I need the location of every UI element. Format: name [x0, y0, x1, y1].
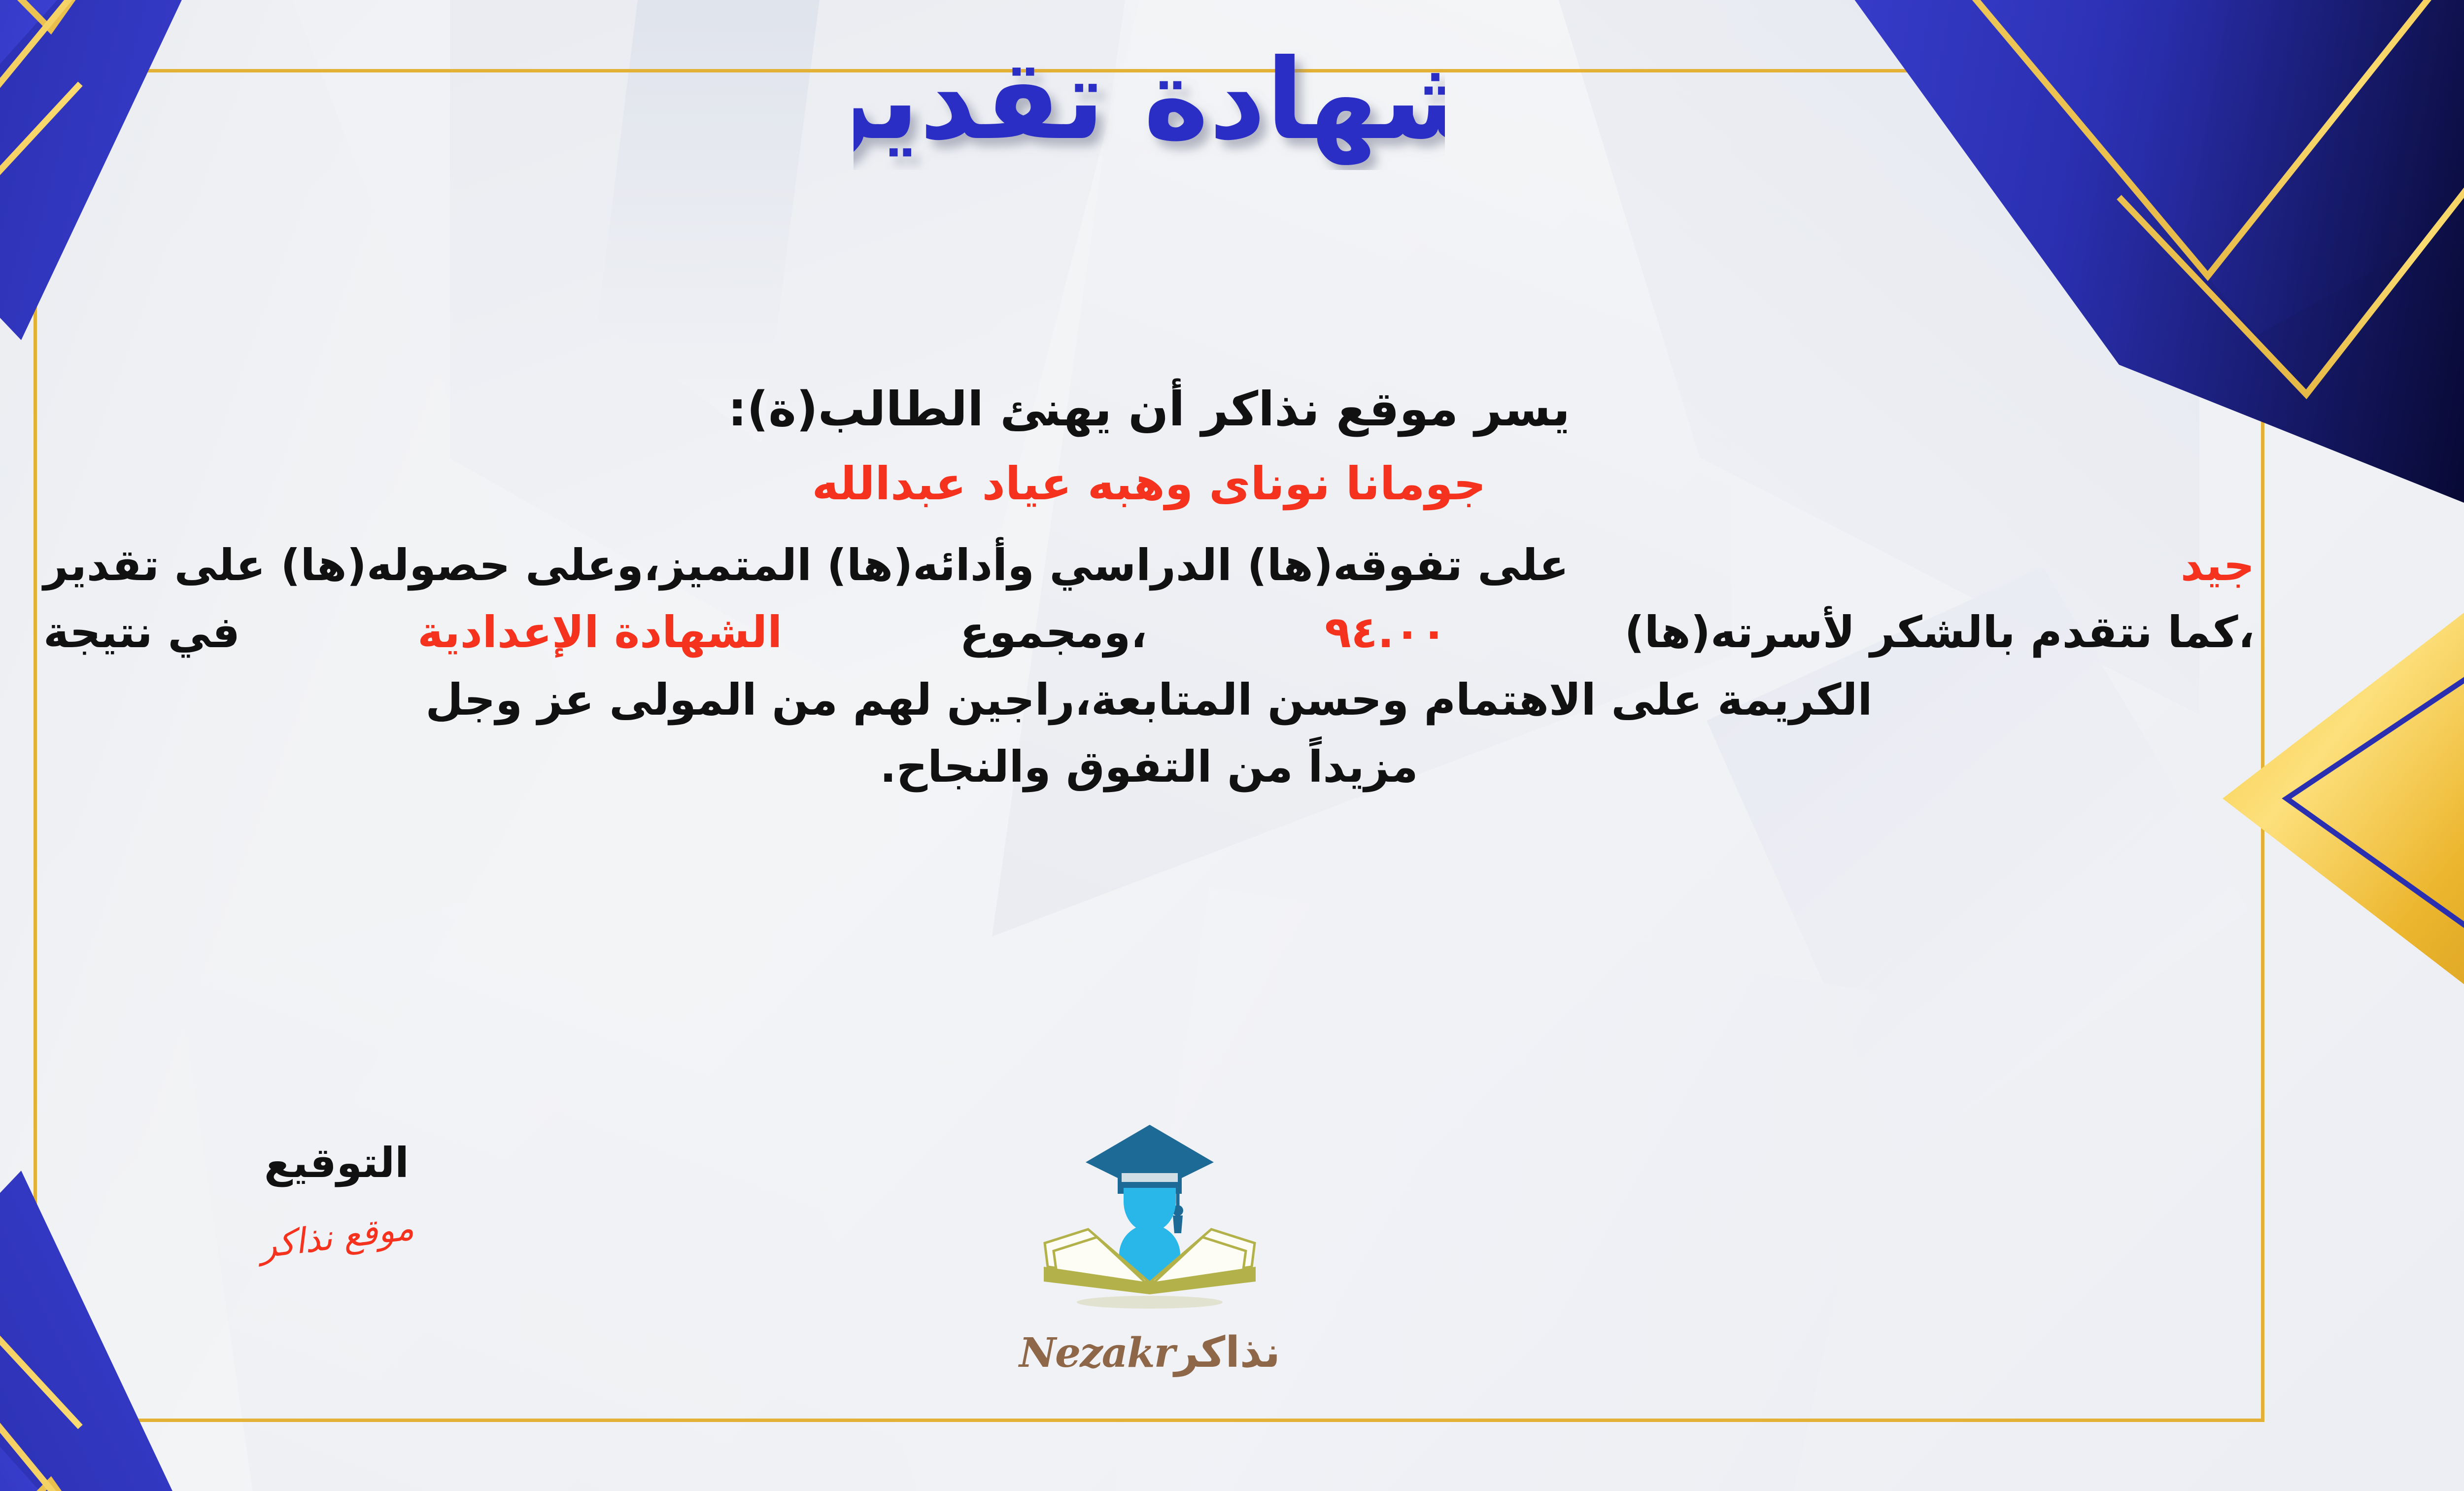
citation-line-2: ،كما نتقدم بالشكر لأسرته(ها) ٩٤.٠٠ ،ومجم… [43, 599, 2255, 666]
greeting-line: يسر موقع نذاكر أن يهنئ الطالب(ة): [34, 380, 2264, 439]
signature-label: التوقيع [199, 1139, 475, 1187]
certificate-content: يسر موقع نذاكر أن يهنئ الطالب(ة): جومانا… [34, 380, 2264, 801]
citation-line-2-suffix: ،كما نتقدم بالشكر لأسرته(ها) [1625, 599, 2255, 666]
citation-paragraph: جيد على تفوقه(ها) الدراسي وأدائه(ها) الم… [34, 532, 2264, 801]
signature-script: موقع نذاكر [257, 1207, 416, 1266]
grade-value: جيد [2181, 532, 2255, 599]
citation-line-3: الكريمة على الاهتمام وحسن المتابعة،راجين… [43, 666, 2255, 733]
citation-line-2-prefix: في نتيجة [43, 599, 240, 666]
brand-wordmark: Nezakrنذاكر [962, 1328, 1337, 1377]
citation-line-1-text: على تفوقه(ها) الدراسي وأدائه(ها) المتميز… [43, 532, 1569, 599]
student-name: جومانا نوناى وهبه عياد عبدالله [34, 455, 2264, 512]
citation-line-4: مزيداً من التفوق والنجاح. [43, 733, 2255, 800]
exam-name: الشهادة الإعدادية [417, 599, 782, 666]
page-title: شهادة تقدير [0, 37, 2464, 172]
brand-latin: Nezakr [1019, 1329, 1174, 1377]
citation-line-1: جيد على تفوقه(ها) الدراسي وأدائه(ها) الم… [43, 532, 2255, 599]
title-text: شهادة تقدير [854, 37, 1445, 166]
citation-line-2-middle: ،ومجموع [959, 599, 1147, 666]
signature-block: التوقيع موقع نذاكر [199, 1139, 475, 1257]
total-score: ٩٤.٠٠ [1325, 599, 1447, 666]
graduate-book-icon [1034, 1119, 1266, 1326]
title-calligraphy: شهادة تقدير [854, 37, 1445, 170]
brand-logo: Nezakrنذاكر [962, 1119, 1337, 1377]
brand-arabic: نذاكر [1174, 1328, 1280, 1377]
certificate-page: شهادة تقدير يسر موقع نذاكر أن يهنئ الطال… [0, 0, 2464, 1491]
